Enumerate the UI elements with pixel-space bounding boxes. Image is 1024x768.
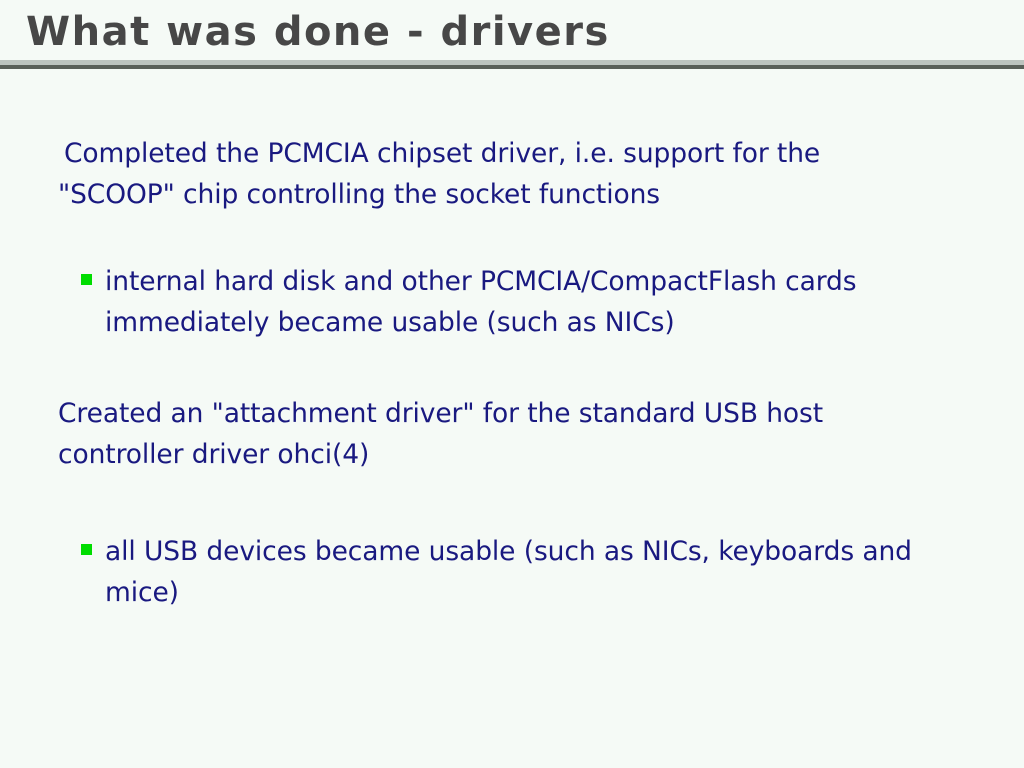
slide-body: Completed the PCMCIA chipset driver, i.e… [0,78,1024,768]
list-item: internal hard disk and other PCMCIA/Comp… [81,261,941,343]
title-divider [0,60,1024,69]
square-bullet-icon [81,274,92,285]
list-item: all USB devices became usable (such as N… [81,531,941,613]
body-paragraph-usb-attachment-driver: Created an "attachment driver" for the s… [58,393,938,475]
presentation-slide: What was done - drivers Completed the PC… [0,0,1024,768]
page-title: What was done - drivers [26,8,610,56]
square-bullet-icon [81,544,92,555]
title-divider-dark-band [0,65,1024,69]
list-item-label: internal hard disk and other PCMCIA/Comp… [105,261,941,343]
list-item-label: all USB devices became usable (such as N… [105,531,941,613]
body-paragraph-pcmcia-driver: Completed the PCMCIA chipset driver, i.e… [58,133,938,215]
